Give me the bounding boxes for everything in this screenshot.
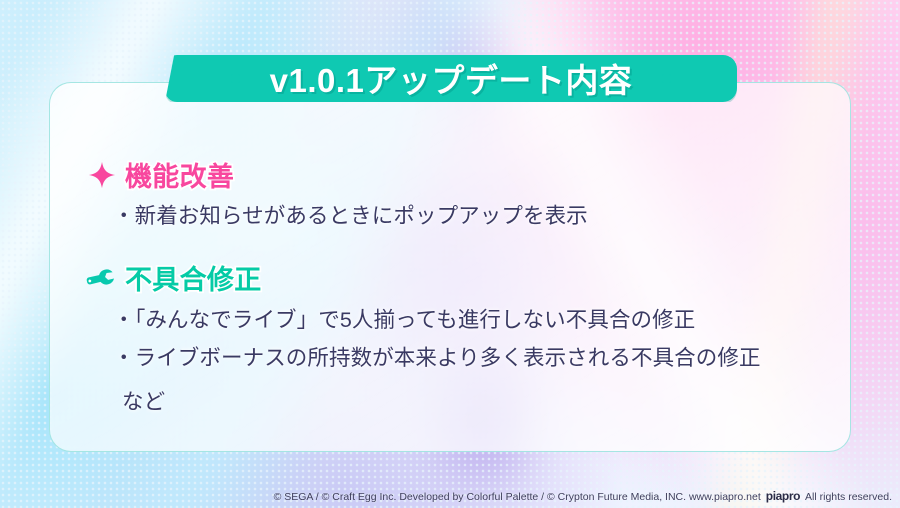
footer-copyright: © SEGA / © Craft Egg Inc. Developed by C… <box>274 489 892 503</box>
bugfix-item-etc: など <box>122 385 165 416</box>
rights-text: All rights reserved. <box>805 491 892 503</box>
update-content: 機能改善 ・新着お知らせがあるときにポップアップを表示 不具合修正 ・「みんなで… <box>0 0 900 508</box>
section-title-improvements: 機能改善 <box>125 155 234 194</box>
section-header-bugfixes: 不具合修正 <box>86 258 262 297</box>
improvement-item-1: ・新着お知らせがあるときにポップアップを表示 <box>113 199 588 230</box>
bugfix-item-1: ・「みんなでライブ」で5人揃っても進行しない不具合の修正 <box>113 303 695 334</box>
update-notice-screen: v1.0.1アップデート内容 機能改善 ・新着お知らせがあるときにポップアップを… <box>0 0 900 508</box>
section-title-bugfixes: 不具合修正 <box>125 258 262 297</box>
copyright-text: © SEGA / © Craft Egg Inc. Developed by C… <box>274 491 761 503</box>
piapro-logo: piapro <box>766 489 800 503</box>
sparkle-icon <box>88 161 116 189</box>
wrench-icon <box>86 263 116 293</box>
section-header-improvements: 機能改善 <box>88 155 234 194</box>
bugfix-item-2: ・ライブボーナスの所持数が本来より多く表示される不具合の修正 <box>113 341 761 372</box>
